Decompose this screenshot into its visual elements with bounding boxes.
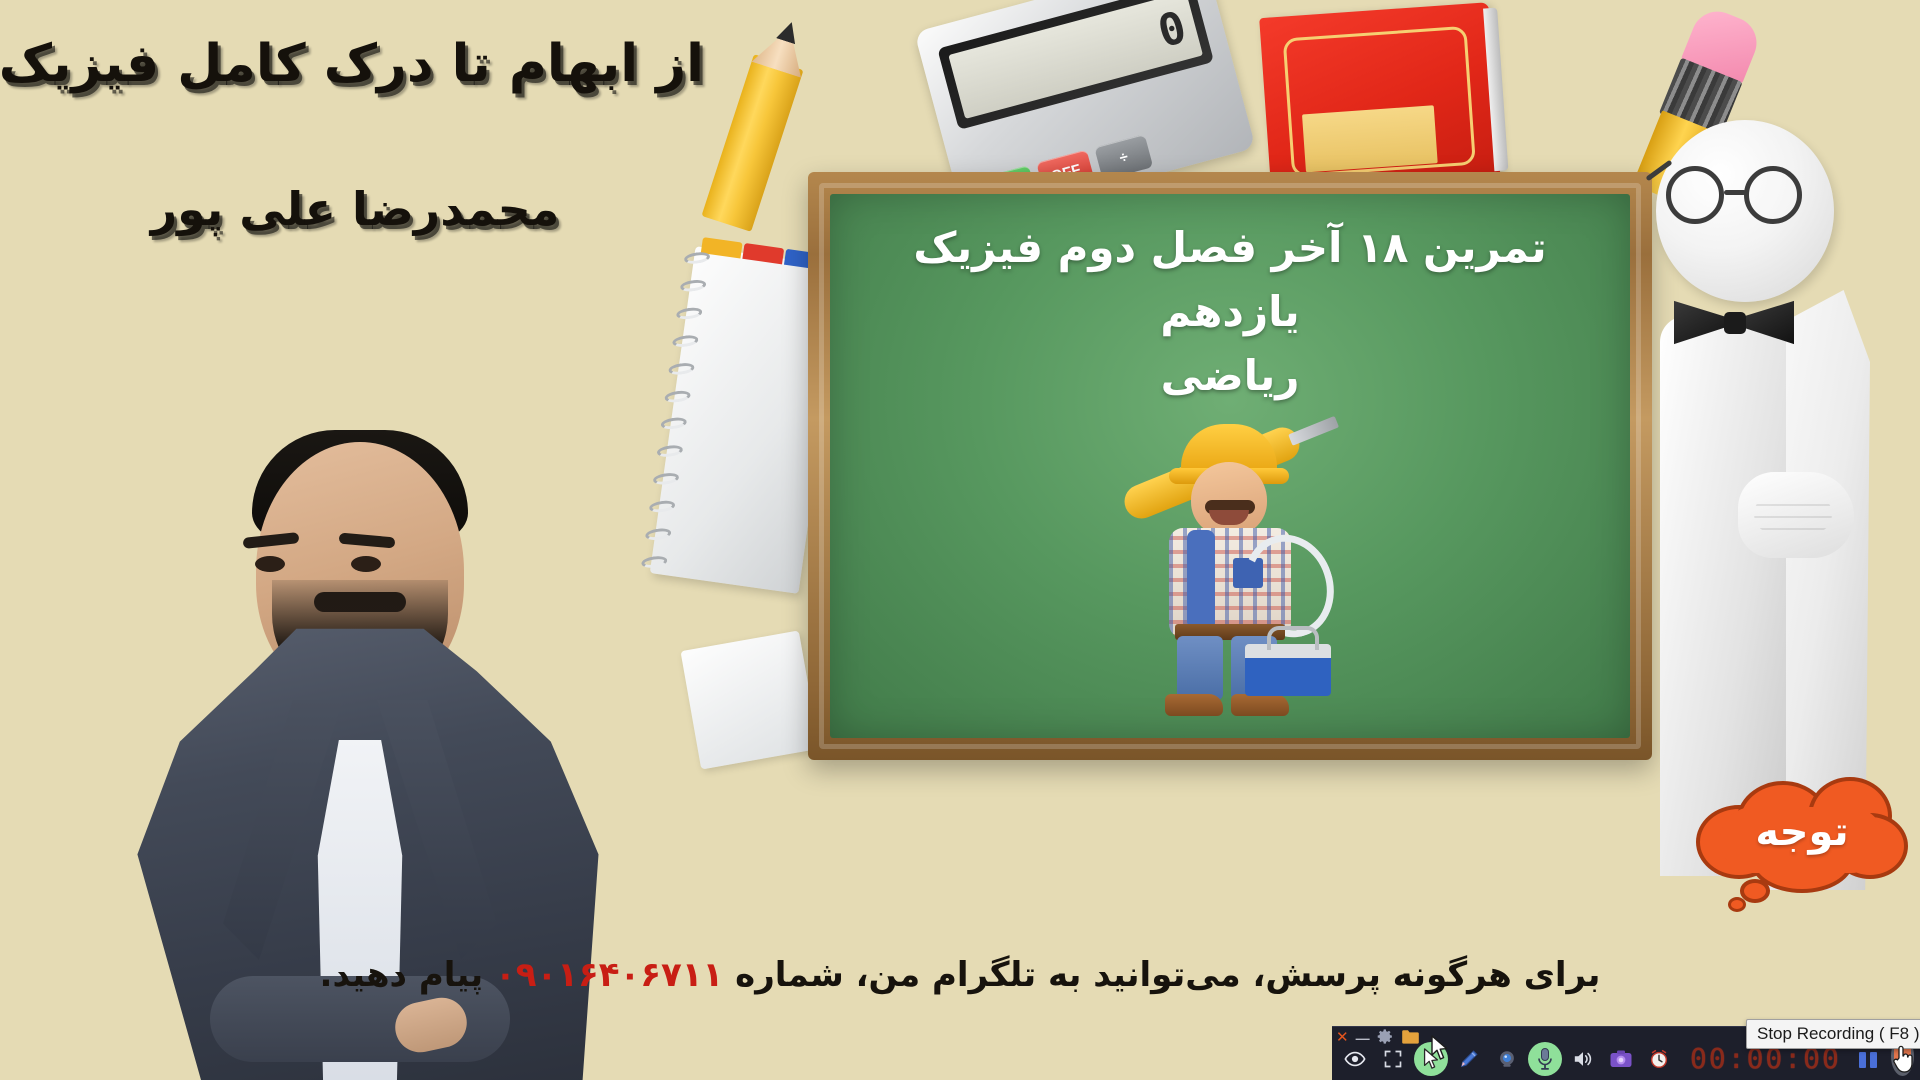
gear-icon[interactable]	[1377, 1028, 1394, 1047]
round-glasses-icon	[1666, 166, 1842, 226]
attention-thought-bubble: توجه	[1690, 775, 1914, 905]
timer-alarm-icon[interactable]	[1642, 1042, 1676, 1076]
bowtie-wing-right	[1738, 298, 1794, 346]
lesson-title-line-1: تمرین ۱۸ آخر فصل دوم فیزیک یازدهم	[854, 216, 1606, 344]
preview-eye-icon[interactable]	[1338, 1042, 1372, 1076]
mouse-cursor-hand	[1892, 1044, 1914, 1074]
worker-boot-right	[1231, 694, 1289, 716]
worker-toolbox	[1245, 644, 1331, 696]
author-name: محمدرضا علی پور	[120, 182, 590, 236]
microphone-icon[interactable]	[1528, 1042, 1562, 1076]
bowtie-wing-left	[1674, 298, 1730, 346]
mascot-hand	[1738, 472, 1854, 558]
glasses-bridge	[1724, 190, 1746, 195]
minimize-icon[interactable]: —	[1356, 1031, 1370, 1045]
webcam-icon[interactable]	[1490, 1042, 1524, 1076]
bowtie-knot	[1724, 312, 1746, 334]
red-book-icon	[1259, 2, 1501, 193]
worker-boot-left	[1165, 694, 1223, 716]
contact-caption: برای هرگونه پرسش، می‌توانید به تلگرام من…	[0, 955, 1920, 995]
presenter-eye-left	[255, 556, 285, 572]
bow-tie-icon	[1674, 298, 1794, 348]
close-icon[interactable]: ✕	[1336, 1030, 1349, 1045]
white-paper-sheet	[680, 630, 819, 769]
lesson-title: تمرین ۱۸ آخر فصل دوم فیزیک یازدهم ریاضی	[854, 216, 1606, 407]
presenter-eye-right	[351, 556, 381, 572]
contact-text-before: برای هرگونه پرسش، می‌توانید به تلگرام من…	[735, 955, 1600, 995]
region-select-icon[interactable]	[1376, 1042, 1410, 1076]
mouse-cursor-arrow	[1430, 1035, 1448, 1061]
glasses-lens-right	[1744, 166, 1802, 224]
attention-label: توجه	[1690, 775, 1914, 905]
speaker-icon[interactable]	[1566, 1042, 1600, 1076]
blackboard: تمرین ۱۸ آخر فصل دوم فیزیک یازدهم ریاضی	[808, 172, 1652, 760]
construction-worker-icon	[1125, 418, 1335, 718]
pause-recording-button[interactable]	[1859, 1052, 1877, 1068]
page-title: از ابهام تا درک کامل فیزیک	[14, 34, 704, 94]
worker-leg-left	[1177, 636, 1223, 700]
pencil-barrel	[702, 54, 804, 232]
slide-canvas: از ابهام تا درک کامل فیزیک محمدرضا علی پ…	[0, 0, 1920, 1080]
white-mascot-figure	[1630, 120, 1920, 880]
lesson-title-line-2: ریاضی	[854, 344, 1606, 408]
blackboard-surface: تمرین ۱۸ آخر فصل دوم فیزیک یازدهم ریاضی	[830, 194, 1630, 738]
folder-icon[interactable]	[1401, 1029, 1420, 1047]
glasses-temple	[1645, 160, 1672, 182]
glasses-lens-left	[1666, 166, 1724, 224]
screenshot-camera-icon[interactable]	[1604, 1042, 1638, 1076]
pen-annotate-icon[interactable]	[1452, 1042, 1486, 1076]
worker-vest-strap	[1187, 530, 1215, 630]
telegram-phone-number: ۰۹۰۱۶۴۰۶۷۱۱	[495, 955, 723, 995]
book-title-label	[1302, 105, 1438, 172]
contact-text-after: پیام دهید.	[320, 955, 484, 995]
recorder-window-controls[interactable]: ✕ —	[1336, 1028, 1420, 1047]
